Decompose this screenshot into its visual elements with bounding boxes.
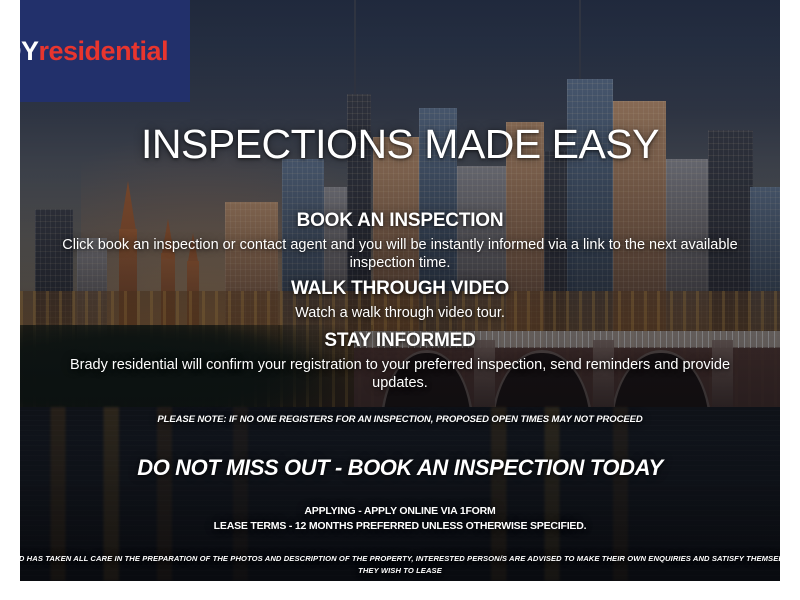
section-body-video: Watch a walk through video tour. [60,304,740,323]
application-terms: APPLYING - APPLY ONLINE VIA 1FORM LEASE … [20,504,780,534]
section-title-informed: STAY INFORMED [60,330,740,353]
terms-applying: APPLYING - APPLY ONLINE VIA 1FORM [20,504,780,519]
call-to-action-text: DO NOT MISS OUT - BOOK AN INSPECTION TOD… [20,455,780,481]
section-body-book: Click book an inspection or contact agen… [60,236,740,273]
disclaimer-line-1: TY LTD HAS TAKEN ALL CARE IN THE PREPARA… [20,553,780,565]
logo-brand-text: DY [20,36,39,66]
section-walk-through-video: WALK THROUGH VIDEO Watch a walk through … [60,278,740,322]
hero-banner: DYresidential INSPECTIONS MADE EASY BOOK… [20,0,780,581]
logo-suffix-text: residential [39,36,169,66]
section-title-book: BOOK AN INSPECTION [60,210,740,233]
page-stage: DYresidential INSPECTIONS MADE EASY BOOK… [0,0,800,600]
legal-disclaimer: TY LTD HAS TAKEN ALL CARE IN THE PREPARA… [20,553,780,577]
please-note-text: PLEASE NOTE: IF NO ONE REGISTERS FOR AN … [20,414,780,425]
terms-lease: LEASE TERMS - 12 MONTHS PREFERRED UNLESS… [20,519,780,534]
section-book-an-inspection: BOOK AN INSPECTION Click book an inspect… [60,210,740,273]
hero-headline: INSPECTIONS MADE EASY [20,124,780,165]
section-title-video: WALK THROUGH VIDEO [60,278,740,301]
section-stay-informed: STAY INFORMED Brady residential will con… [60,330,740,393]
section-body-informed: Brady residential will confirm your regi… [60,356,740,393]
brady-residential-logo[interactable]: DYresidential [20,0,190,102]
logo-wordmark: DYresidential [20,38,168,65]
disclaimer-line-2: THEY WISH TO LEASE [20,565,780,577]
